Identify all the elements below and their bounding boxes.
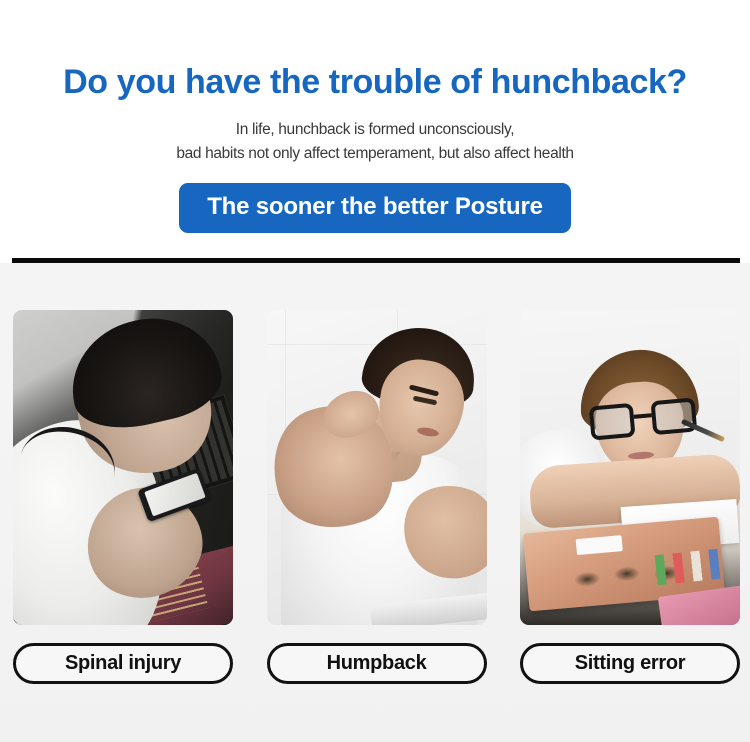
caption-pill-sitting-error[interactable]: Sitting error [520,643,740,684]
book-label-shape [576,535,623,555]
caption-pill-spinal-injury[interactable]: Spinal injury [13,643,233,684]
hero-subtitle: In life, hunchback is formed unconscious… [0,102,750,166]
hero-subtitle-line-1: In life, hunchback is formed unconscious… [0,118,750,142]
cta-button[interactable]: The sooner the better Posture [179,183,571,232]
left-lens-shape [589,403,636,441]
photo-man-hunched-over-phone [13,310,233,625]
right-lens-shape [650,397,697,435]
caption-pill-humpback[interactable]: Humpback [267,643,487,684]
photo-child-slumped-over-books [520,310,740,625]
hero-section: Do you have the trouble of hunchback? In… [0,0,750,256]
cta-container: The sooner the better Posture [0,166,750,232]
glasses-bridge-shape [634,413,652,419]
problem-card-spinal-injury[interactable]: Spinal injury [13,310,233,684]
problem-card-list: Spinal injury Humpback [13,310,740,684]
problems-panel: Spinal injury Humpback [0,263,750,742]
photo-man-holding-neck [267,310,487,625]
page-title: Do you have the trouble of hunchback? [0,0,750,102]
problem-card-sitting-error[interactable]: Sitting error [520,310,740,684]
problem-card-humpback[interactable]: Humpback [267,310,487,684]
hero-subtitle-line-2: bad habits not only affect temperament, … [0,142,750,166]
